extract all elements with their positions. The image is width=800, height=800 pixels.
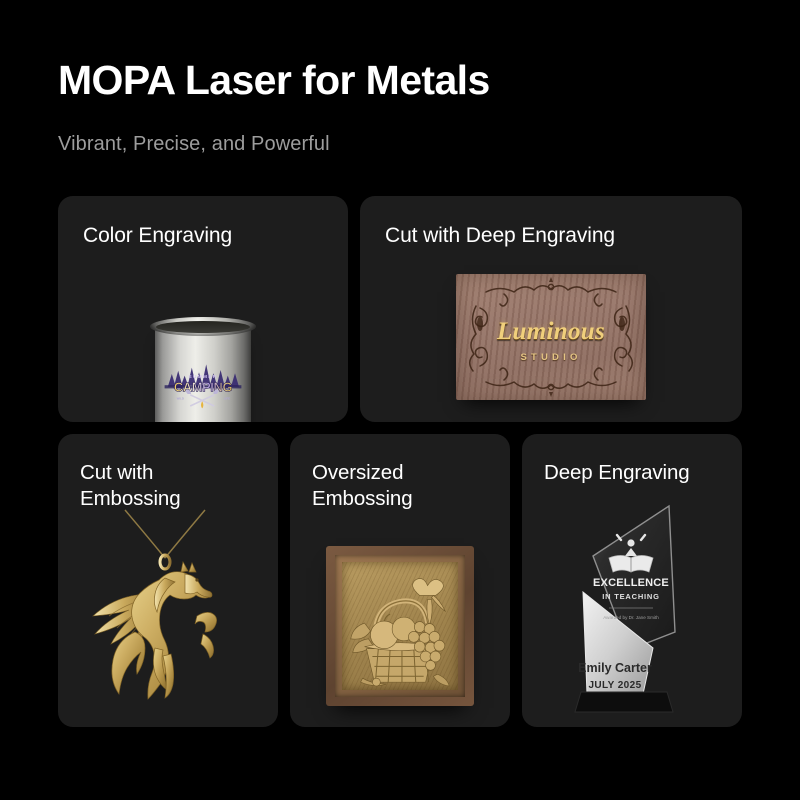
grid-row-top: Color Engraving xyxy=(58,196,742,422)
award-recipient: Emily Carter xyxy=(578,661,652,675)
svg-text:WILD: WILD xyxy=(177,397,184,401)
card-title: Color Engraving xyxy=(83,223,232,250)
card-color-engraving[interactable]: Color Engraving xyxy=(58,196,348,422)
page-subtitle: Vibrant, Precise, and Powerful xyxy=(58,133,330,156)
card-title: Deep Engraving xyxy=(544,460,690,486)
card-deep-engraving[interactable]: Deep Engraving xyxy=(522,434,742,727)
plaque-brand-name: Luminous xyxy=(456,318,646,346)
award-date: JULY 2025 xyxy=(588,680,641,691)
card-title: Cut with Deep Engraving xyxy=(385,223,615,250)
card-title: Oversized Embossing xyxy=(312,460,413,512)
showcase-grid: Color Engraving xyxy=(58,196,742,727)
award-title-line2: IN TEACHING xyxy=(602,592,660,601)
plaque-brand-subtitle: STUDIO xyxy=(456,352,646,363)
card-title: Cut with Embossing xyxy=(80,460,181,512)
award-title-line1: EXCELLENCE xyxy=(593,577,669,589)
mug-rim xyxy=(150,317,256,336)
award-fine-print: Awarded by Dr. Jane Smith xyxy=(603,615,659,620)
svg-text:LIFE: LIFE xyxy=(224,397,230,401)
page-title: MOPA Laser for Metals xyxy=(58,58,490,104)
card-cut-with-embossing[interactable]: Cut with Embossing xyxy=(58,434,278,727)
card-oversized-embossing[interactable]: Oversized Embossing xyxy=(290,434,510,727)
card-cut-with-deep-engraving[interactable]: Cut with Deep Engraving xyxy=(360,196,742,422)
necklace-chain xyxy=(125,510,205,558)
fruit-basket-relief xyxy=(342,562,458,690)
svg-text:CAMPING: CAMPING xyxy=(174,380,233,395)
promo-page: MOPA Laser for Metals Vibrant, Precise, … xyxy=(0,0,800,800)
mug-artwork: SUMMER CAMPING WILD xyxy=(163,346,243,418)
grid-row-bottom: Cut with Embossing xyxy=(58,434,742,727)
trophy-base xyxy=(575,692,673,712)
